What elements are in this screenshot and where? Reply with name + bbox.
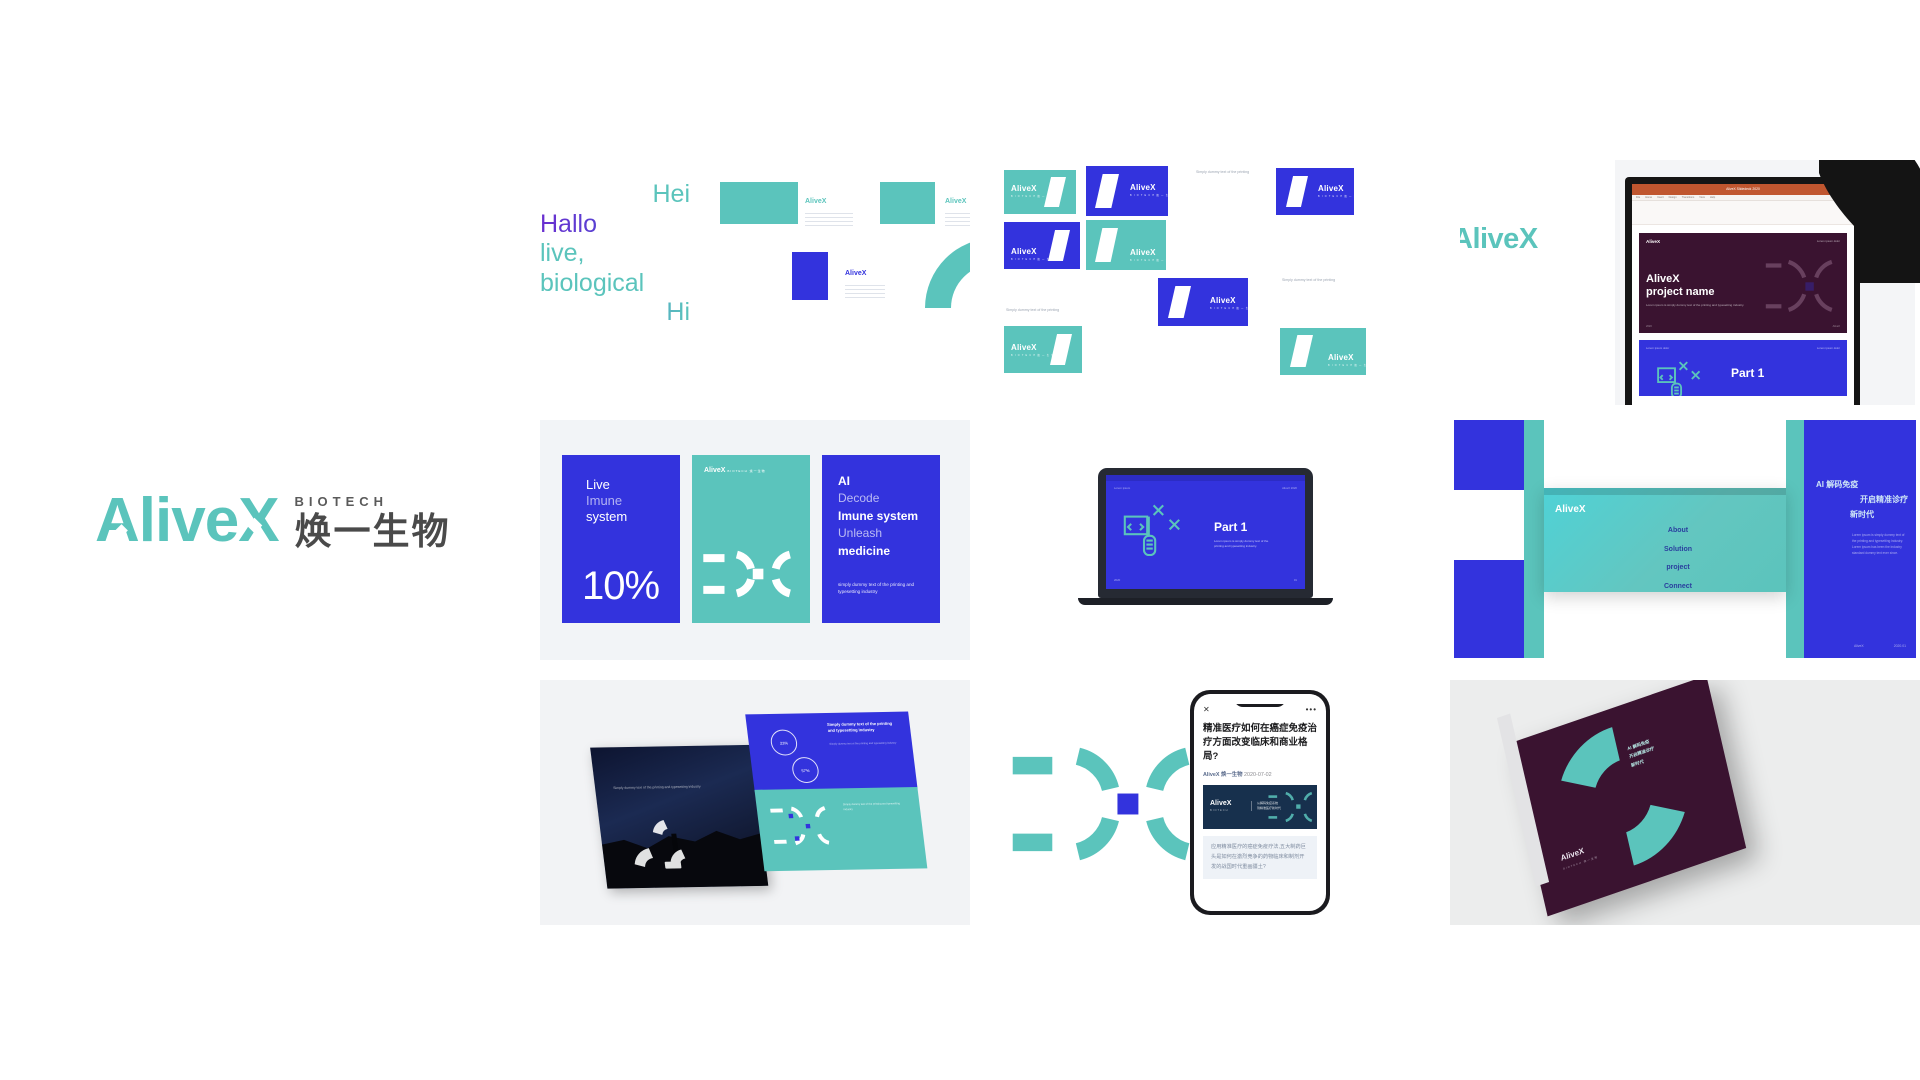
nav-item-about[interactable]: About [1638, 522, 1718, 541]
business-card: AliveX B I O T E C H 焕 一 生 物 [1004, 326, 1082, 373]
poster-live-imune: Live Imune system 10% [562, 455, 680, 623]
swatch-label-2: AliveX [945, 198, 966, 205]
ribbon-tab-file[interactable]: File [1636, 196, 1640, 199]
swatch-label-3: AliveX [845, 270, 866, 277]
banner-logo-sub: BIOTECH [1210, 809, 1229, 812]
web-body-cn: Lorem ipsum is simply dummy text of the … [1852, 532, 1908, 556]
poster-logo-text: AliveX [704, 467, 725, 474]
brand-lockup-right: BIOTECH 焕一生物 [295, 494, 451, 552]
brochure-mark [764, 800, 840, 851]
business-card: AliveX B I O T E C H 焕 一 生 物 [1086, 166, 1168, 216]
article-author: AliveX 焕一生物 [1203, 772, 1243, 778]
swatch-teal-1 [720, 182, 798, 224]
close-icon[interactable]: ✕ [1203, 705, 1210, 714]
more-icon[interactable]: ••• [1306, 705, 1317, 714]
slide2-title: Part 1 [1731, 366, 1764, 380]
brand-wordmark: AliveX [95, 490, 279, 552]
ribbon-tab-insert[interactable]: Insert [1657, 196, 1664, 199]
poster-ai-text: AI Decode Imune system Unleash medicine [838, 473, 918, 560]
brand-mark-large [1000, 740, 1200, 868]
slide2-tag-right: Lorem ipsum dolor [1817, 346, 1840, 350]
swatch-lines-2 [945, 210, 970, 226]
web-nav[interactable]: About Solution project Connect [1638, 522, 1718, 596]
poster-ai-line-1: AI [838, 473, 918, 490]
slide-footer-right: AliveX [1833, 325, 1840, 328]
poster-logo-sub: BIOTECH 焕一生物 [727, 469, 765, 473]
poster-brand-mark: AliveXBIOTECH 焕一生物 [692, 455, 810, 623]
web-mockup-cell: AI 解码免疫 开启精准诊疗 新时代 Lorem ipsum is simply… [1450, 420, 1920, 660]
brochure-page-right-bottom: Simply dummy text of the printing and ty… [754, 787, 927, 871]
card-annotation: Simply dummy text of the printing [1006, 308, 1066, 313]
type-line-hei: Hei [540, 180, 690, 210]
business-cards-cell: AliveX B I O T E C H 焕 一 生 物 AliveX B I … [1000, 160, 1420, 390]
nav-item-solution[interactable]: Solution [1638, 541, 1718, 560]
ribbon-tab-transitions[interactable]: Transitions [1682, 196, 1695, 199]
type-line-live: live, [540, 239, 690, 269]
article-title: 精准医疗如何在癌症免疫治疗方面改变临床和商业格局? [1203, 722, 1317, 763]
panel-chinese-headline: AI 解码免疫 开启精准诊疗 新时代 Lorem ipsum is simply… [1804, 420, 1916, 658]
ribbon-tab-help[interactable]: Help [1710, 196, 1715, 199]
business-card: AliveX B I O T E C H 焕 一 生 物 [1004, 222, 1080, 269]
swatch-label-1: AliveX [805, 198, 826, 205]
block-teal-left [1524, 420, 1544, 565]
laptop-illustration [1120, 497, 1208, 565]
web-logo: AliveX [1555, 504, 1586, 515]
type-line-hallo: Hallo [540, 210, 690, 240]
business-card: AliveX B I O T E C H 焕 一 生 物 [1158, 278, 1248, 326]
poster-set-cell: Live Imune system 10% AliveXBIOTECH 焕一生物 [540, 420, 970, 660]
swatch-blue-1 [792, 252, 828, 300]
laptop-tag-right: AliveX 2020 [1282, 486, 1297, 490]
slide-title: AliveX project name [1646, 273, 1714, 299]
banner-mark [1265, 785, 1317, 829]
book-mockup-cell: AI 解码免疫 开启精准诊疗 新时代 AliveX BIOTECH 焕一生物 [1450, 680, 1920, 925]
business-card: AliveX B I O T E C H 焕 一 生 物 [1004, 170, 1076, 214]
brochure-page-left: Simply dummy text of the printing and ty… [590, 745, 768, 889]
laptop-tag-left: Lorem ipsum [1114, 486, 1130, 490]
slide-description: Lorem ipsum is simply dummy text of the … [1646, 303, 1751, 308]
ribbon-tab-home[interactable]: Home [1645, 196, 1652, 199]
card-annotation: Simply dummy text of the printing [1282, 278, 1342, 283]
poster-ai-line-2: Decode [838, 490, 918, 507]
article-banner: AliveX BIOTECH 从解码免疫系统 到精准医疗新时代 [1203, 785, 1317, 829]
swatch-lines-1 [805, 210, 853, 226]
headline-cn-line-2: 开启精准诊疗 [1816, 493, 1908, 508]
poster-ai-decode: AI Decode Imune system Unleash medicine … [822, 455, 940, 623]
brand-wordmark-small: AliveX [1460, 223, 1538, 256]
poster-live-line-1: Live [586, 477, 627, 493]
brochure-mockup-cell: Simply dummy text of the printing and ty… [540, 680, 970, 925]
hand-holding-stylus [1811, 160, 1920, 283]
block-blue-tl [1454, 420, 1524, 490]
typography-poster-cell: Hei Hallo live, biological Hi AliveX Ali… [540, 160, 970, 360]
phone-screen: ✕ ••• 精准医疗如何在癌症免疫治疗方面改变临床和商业格局? AliveX 焕… [1194, 694, 1326, 911]
browser-bar [1106, 475, 1305, 481]
laptop-title: Part 1 [1214, 520, 1247, 534]
laptop-footer-left: 2020 [1114, 578, 1120, 582]
business-card: AliveX B I O T E C H 焕 一 生 物 [1086, 220, 1166, 270]
poster-stat: 10% [582, 564, 659, 609]
laptop-base [1078, 598, 1333, 605]
browser-chrome-bar [1544, 488, 1786, 495]
laptop-screen: Lorem ipsum AliveX 2020 Par [1106, 475, 1305, 589]
laptop-footer-right: 01 [1294, 578, 1297, 582]
web-browser-window[interactable]: AliveX About Solution project Connect [1544, 488, 1786, 592]
nav-item-project[interactable]: project [1638, 559, 1718, 578]
swatch-teal-2 [880, 182, 935, 224]
poster-xd-mark [698, 547, 804, 601]
article-byline: AliveX 焕一生物 2020-07-02 [1203, 770, 1317, 778]
brand-showcase-canvas: AliveX BIOTECH 焕一生物 Hei Hallo live, biol… [0, 0, 1920, 1080]
block-teal-right [1786, 420, 1804, 658]
poster-live-text: Live Imune system [586, 477, 627, 525]
phone-status-bar [1194, 694, 1326, 704]
poster-logo: AliveXBIOTECH 焕一生物 [704, 467, 766, 474]
slide-logo: AliveX [1646, 239, 1660, 244]
brand-tagline: BIOTECH [295, 494, 451, 509]
laptop-device: Lorem ipsum AliveX 2020 Par [1098, 468, 1333, 605]
brochure-body-2: Simply dummy text of the printing and ty… [843, 801, 911, 812]
slide2-tag-left: Lorem ipsum dolor [1646, 346, 1669, 350]
type-line-hi: Hi [540, 298, 690, 328]
slide-part-1[interactable]: Lorem ipsum dolor Lorem ipsum dolor [1639, 340, 1847, 396]
slide-footer-left: 2020 [1646, 325, 1652, 328]
ribbon-tab-view[interactable]: View [1699, 196, 1705, 199]
brochure-page-right-top: Simply dummy text of the printing and ty… [745, 712, 917, 792]
brochure-arc-overlay [590, 745, 768, 889]
web-footer-left: AliveX [1854, 644, 1864, 648]
web-footer-right: 2020.01 [1894, 644, 1906, 648]
tablet-mockup-cell: AliveX AliveX Slidedeck 2020 File Home I… [1460, 160, 1920, 405]
type-line-biological: biological [540, 269, 690, 299]
powerpoint-title: AliveX Slidedeck 2020 [1726, 187, 1760, 191]
swatch-lines-3 [845, 282, 885, 298]
business-card: AliveX B I O T E C H 焕 一 生 物 [1276, 168, 1354, 215]
brochure-stat-2: 57% [791, 757, 820, 783]
headline-cn-line-3: 新时代 [1816, 508, 1908, 523]
nav-item-connect[interactable]: Connect [1638, 578, 1718, 597]
ribbon-tab-design[interactable]: Design [1669, 196, 1677, 199]
laptop-mockup-cell: Lorem ipsum AliveX 2020 Par [1000, 420, 1420, 660]
brand-logo-lockup: AliveX BIOTECH 焕一生物 [95, 490, 451, 552]
article-nav-bar[interactable]: ✕ ••• [1194, 704, 1326, 717]
block-blue-bl [1454, 560, 1524, 658]
article-date: 2020-07-02 [1244, 772, 1272, 778]
web-headline-cn: AI 解码免疫 开启精准诊疗 新时代 [1816, 478, 1908, 522]
tablet-scene: AliveX Slidedeck 2020 File Home Insert D… [1615, 160, 1915, 405]
brochure-stat-1: 23% [769, 729, 798, 755]
block-teal-bl [1524, 560, 1544, 658]
headline-cn-line-1: AI 解码免疫 [1816, 478, 1908, 493]
business-card: AliveX B I O T E C H 焕 一 生 物 [1280, 328, 1366, 375]
banner-logo: AliveX [1210, 800, 1231, 807]
poster-live-line-2: Imune [586, 493, 627, 509]
poster-live-line-3: system [586, 509, 627, 525]
poster-ai-line-5: medicine [838, 543, 918, 560]
laptop-description: Lorem ipsum is simply dummy text of the … [1214, 539, 1276, 549]
poster-ai-dummy: simply dummy text of the printing and ty… [838, 581, 926, 595]
brand-arc-shape [925, 238, 970, 308]
slide2-illustration [1653, 356, 1723, 396]
brochure-body: Simply dummy text of the printing and ty… [829, 742, 900, 748]
typography-stack: Hei Hallo live, biological Hi [540, 180, 690, 328]
brochure-heading: Simply dummy text of the printing and ty… [827, 721, 899, 735]
article-quote: 应用精准医疗的癌症免疫疗法,五大制药巨头是如何在激烈竞争的药物临床和制剂开发的战… [1203, 836, 1317, 879]
card-annotation: Simply dummy text of the printing [1196, 170, 1256, 175]
poster-ai-line-4: Unleash [838, 525, 918, 542]
phone-device: ✕ ••• 精准医疗如何在癌症免疫治疗方面改变临床和商业格局? AliveX 焕… [1190, 690, 1330, 915]
brand-name-cn: 焕一生物 [295, 513, 451, 550]
poster-ai-line-3: Imune system [838, 508, 918, 525]
brochure-spread: Simply dummy text of the printing and ty… [589, 703, 926, 901]
laptop-body: Lorem ipsum AliveX 2020 Par [1098, 468, 1313, 598]
mark-and-phone-cell: ✕ ••• 精准医疗如何在癌症免疫治疗方面改变临床和商业格局? AliveX 焕… [1000, 680, 1420, 925]
